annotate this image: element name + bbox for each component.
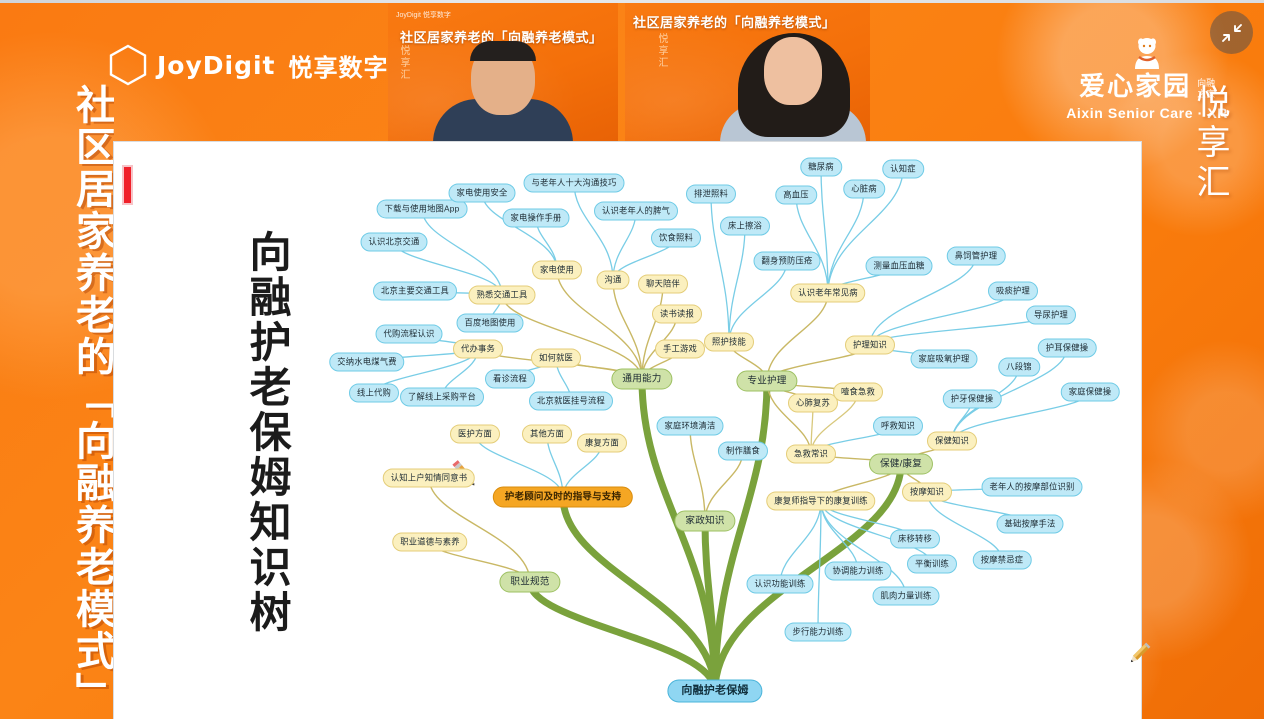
mindmap-edge xyxy=(780,501,821,584)
mindmap-node-leaf[interactable]: 心脏病 xyxy=(843,180,885,199)
video-tile-speaker-1[interactable]: JoyDigit 悦享数字 社区居家养老的「向融养老模式」 悦享汇 xyxy=(388,3,618,143)
mindmap-node-mid[interactable]: 护理知识 xyxy=(845,336,895,355)
mindmap-node-leaf[interactable]: 老年人的按摩部位识别 xyxy=(982,478,1083,497)
mindmap-node-leaf[interactable]: 北京就医挂号流程 xyxy=(529,392,613,411)
mindmap-node-mid[interactable]: 心肺复苏 xyxy=(788,394,838,413)
mindmap-node-root[interactable]: 向融护老保姆 xyxy=(667,680,762,703)
speaker-1-avatar xyxy=(428,47,578,143)
mindmap-node-mid[interactable]: 急救常识 xyxy=(786,445,836,464)
mindmap-node-mid[interactable]: 照护技能 xyxy=(704,333,754,352)
mindmap-node-leaf[interactable]: 制作膳食 xyxy=(718,442,768,461)
mindmap-node-leaf[interactable]: 肌肉力量训练 xyxy=(873,587,940,606)
mindmap-node-mid[interactable]: 如何就医 xyxy=(531,349,581,368)
mindmap-node-leaf[interactable]: 导尿护理 xyxy=(1026,306,1076,325)
mindmap-node-leaf[interactable]: 家庭环境清洁 xyxy=(657,417,724,436)
mindmap-node-leaf[interactable]: 家电使用安全 xyxy=(449,184,516,203)
mindmap-node-mid[interactable]: 职业道德与素养 xyxy=(392,533,467,552)
mindmap-node-leaf[interactable]: 认识功能训练 xyxy=(747,575,814,594)
mindmap-node-mid[interactable]: 按摩知识 xyxy=(902,483,952,502)
mindmap-node-leaf[interactable]: 糖尿病 xyxy=(800,158,842,177)
mindmap-node-leaf[interactable]: 按摩禁忌症 xyxy=(973,551,1032,570)
mindmap-node-mid[interactable]: 保健知识 xyxy=(927,432,977,451)
mindmap-node-accent[interactable]: 护老顾问及时的指导与支持 xyxy=(493,487,633,508)
mindmap-node-mid[interactable]: 医护方面 xyxy=(450,425,500,444)
mindmap-node-leaf[interactable]: 看诊流程 xyxy=(485,370,535,389)
mindmap-edge xyxy=(828,189,864,293)
app-window: JoyDigit 悦享数字 爱心家园 向融 之家 Aixin Senior Ca… xyxy=(0,0,1264,719)
mindmap-node-leaf[interactable]: 床上擦浴 xyxy=(720,217,770,236)
mindmap-node-leaf[interactable]: 床移转移 xyxy=(890,530,940,549)
mindmap-node-leaf[interactable]: 平衡训练 xyxy=(907,555,957,574)
mindmap-node-leaf[interactable]: 认识老年人的脾气 xyxy=(594,202,678,221)
speaker-2-avatar xyxy=(720,31,870,143)
mindmap-node-leaf[interactable]: 家电操作手册 xyxy=(503,209,570,228)
mindmap-edge xyxy=(729,226,745,342)
aixin-chinese-name: 爱心家园 xyxy=(1079,66,1191,103)
mindmap-node-leaf[interactable]: 认识北京交通 xyxy=(361,233,428,252)
mindmap-node-branch[interactable]: 通用能力 xyxy=(611,369,672,390)
shared-screen-canvas[interactable]: 向融护老保姆知识树 向融护老保姆通用能力专业护理保健/康复家政知识职业规范护老顾… xyxy=(113,141,1142,719)
mindmap-node-leaf[interactable]: 吸痰护理 xyxy=(988,282,1038,301)
mindmap-node-leaf[interactable]: 了解线上采购平台 xyxy=(400,388,484,407)
aixin-mascot-icon xyxy=(1126,36,1168,70)
joydigit-logo: JoyDigit 悦享数字 xyxy=(108,44,389,86)
mindmap-edge xyxy=(821,167,828,293)
tile-side-text: 悦享汇 xyxy=(655,33,668,69)
mindmap-node-leaf[interactable]: 下载与使用地图App xyxy=(377,200,468,219)
joydigit-wordmark: JoyDigit xyxy=(157,51,276,80)
mindmap-node-mid[interactable]: 沟通 xyxy=(597,271,630,290)
mindmap-node-branch[interactable]: 家政知识 xyxy=(674,511,735,532)
tile-minilogo: JoyDigit 悦享数字 xyxy=(396,10,451,20)
mindmap-node-mid[interactable]: 认知上户知情同意书 xyxy=(383,469,475,488)
collapse-arrows-icon xyxy=(1221,22,1243,44)
video-tile-speaker-2[interactable]: 社区居家养老的「向融养老模式」 悦享汇 xyxy=(625,3,870,143)
mindmap-node-leaf[interactable]: 呼救知识 xyxy=(873,417,923,436)
mindmap-node-leaf[interactable]: 饮食照料 xyxy=(651,229,701,248)
mindmap-node-leaf[interactable]: 与老年人十大沟通技巧 xyxy=(524,174,625,193)
mindmap-node-leaf[interactable]: 代购流程认识 xyxy=(376,325,443,344)
tile-side-text: 悦享汇 xyxy=(397,45,410,81)
mindmap-node-branch[interactable]: 职业规范 xyxy=(499,572,560,593)
mindmap-node-branch[interactable]: 保健/康复 xyxy=(869,454,933,475)
mindmap-node-mid[interactable]: 康复师指导下的康复训练 xyxy=(766,492,875,511)
mindmap-edge xyxy=(530,582,715,691)
left-vertical-title: 社区居家养老的「向融养老模式」 xyxy=(38,84,114,714)
mindmap-edge xyxy=(767,293,828,381)
mindmap-node-leaf[interactable]: 协调能力训练 xyxy=(825,562,892,581)
mindmap-node-mid[interactable]: 聊天陪伴 xyxy=(638,275,688,294)
mindmap-node-leaf[interactable]: 排泄照料 xyxy=(686,185,736,204)
mindmap-node-branch[interactable]: 专业护理 xyxy=(736,371,797,392)
mindmap-node-leaf[interactable]: 步行能力训练 xyxy=(785,623,852,642)
mindmap-node-leaf[interactable]: 百度地图使用 xyxy=(457,314,524,333)
tile-banner-text: 社区居家养老的「向融养老模式」 xyxy=(633,12,870,31)
mindmap-edge xyxy=(870,315,1051,345)
mindmap-node-leaf[interactable]: 鼻饲管护理 xyxy=(947,247,1006,266)
mindmap-node-leaf[interactable]: 护牙保健操 xyxy=(943,390,1002,409)
mindmap-node-mid[interactable]: 家电使用 xyxy=(532,261,582,280)
collapse-fullscreen-button[interactable] xyxy=(1210,11,1253,54)
mindmap-node-leaf[interactable]: 护耳保健操 xyxy=(1038,339,1097,358)
pencil-cursor-icon xyxy=(1123,640,1153,670)
mindmap-node-leaf[interactable]: 认知症 xyxy=(882,160,924,179)
joydigit-hexagon-icon xyxy=(108,44,148,86)
mindmap-node-leaf[interactable]: 家庭保健操 xyxy=(1061,383,1120,402)
right-vertical-title: 悦享汇 xyxy=(1180,84,1240,204)
mindmap-node-leaf[interactable]: 线上代购 xyxy=(349,384,399,403)
mindmap-node-mid[interactable]: 熟悉交通工具 xyxy=(469,286,536,305)
mindmap-node-mid[interactable]: 手工游戏 xyxy=(655,340,705,359)
mindmap-node-leaf[interactable]: 测量血压血糖 xyxy=(866,257,933,276)
mindmap-node-leaf[interactable]: 八段锦 xyxy=(998,358,1040,377)
mindmap-node-leaf[interactable]: 北京主要交通工具 xyxy=(373,282,457,301)
mindmap-edge xyxy=(613,280,642,379)
mindmap-edge xyxy=(729,261,787,342)
mindmap-node-mid[interactable]: 康复方面 xyxy=(577,434,627,453)
mindmap-connectors xyxy=(114,142,1142,719)
mindmap-node-mid[interactable]: 认识老年常见病 xyxy=(790,284,865,303)
mindmap-node-mid[interactable]: 代办事务 xyxy=(453,340,503,359)
joydigit-chinese-name: 悦享数字 xyxy=(289,48,389,83)
mindmap-edge xyxy=(482,193,557,270)
mindmap-node-leaf[interactable]: 翻身预防压疮 xyxy=(754,252,821,271)
mindmap-node-mid[interactable]: 噎食急救 xyxy=(833,383,883,402)
mindmap-edge xyxy=(821,501,906,596)
mindmap-node-leaf[interactable]: 交纳水电煤气费 xyxy=(329,353,404,372)
mindmap-node-leaf[interactable]: 基础按摩手法 xyxy=(997,515,1064,534)
mindmap-node-mid[interactable]: 读书读报 xyxy=(652,305,702,324)
mindmap-edge xyxy=(690,426,705,521)
mindmap-node-leaf[interactable]: 高血压 xyxy=(775,186,817,205)
mindmap-node-leaf[interactable]: 家庭吸氧护理 xyxy=(911,350,978,369)
mindmap-node-mid[interactable]: 其他方面 xyxy=(522,425,572,444)
